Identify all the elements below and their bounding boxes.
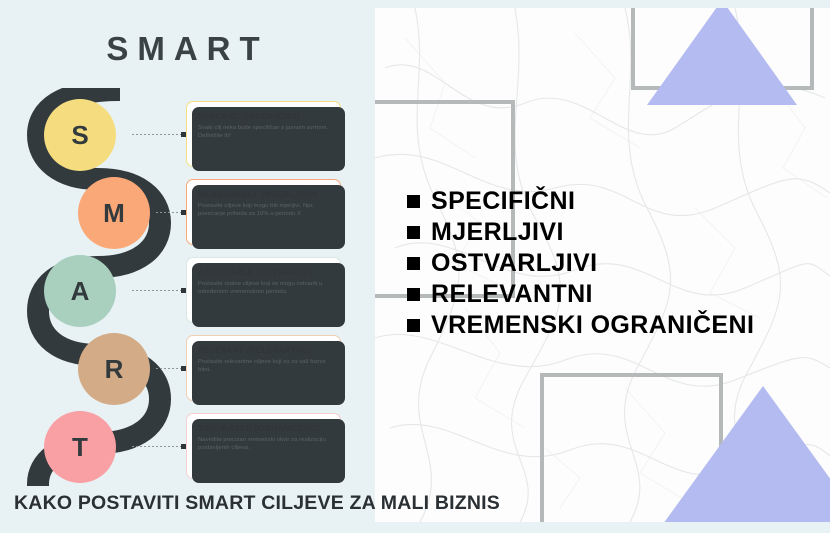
list-item: VREMENSKI OGRANIČENI: [407, 310, 754, 341]
connector-dot-a: [181, 288, 186, 293]
square-bullet-icon: [407, 319, 420, 332]
step-letter: T: [72, 432, 88, 463]
connector-line-m: [156, 212, 184, 213]
square-bullet-icon: [407, 288, 420, 301]
bullet-label: MJERLJIVI: [431, 218, 564, 247]
list-item: MJERLJIVI: [407, 217, 754, 248]
square-bullet-icon: [407, 257, 420, 270]
smart-bullet-list: SPECIFIČNI MJERLJIVI OSTVARLJIVI RELEVAN…: [407, 186, 754, 341]
list-item: OSTVARLJIVI: [407, 248, 754, 279]
card-title: SPECIFIC (SPECIFIČNO): [198, 111, 330, 122]
step-letter: M: [103, 198, 125, 229]
connector-dot-r: [181, 366, 186, 371]
step-circle-m[interactable]: M: [78, 177, 150, 249]
triangle-bottom-accent: [663, 386, 830, 522]
connector-line-a: [132, 290, 184, 291]
connector-dot-s: [181, 132, 186, 137]
step-card-relevant[interactable]: RELEVANT (RELEVANTNO) Postavite relevant…: [186, 335, 341, 401]
connector-dot-m: [181, 210, 186, 215]
card-title: TIME-BASED (OGRANIČENO): [198, 423, 330, 434]
step-letter: S: [71, 120, 88, 151]
card-body: Svaki cilj neka bude specifičan s jasnom…: [198, 124, 330, 141]
list-item: RELEVANTNI: [407, 279, 754, 310]
left-panel: SMART S M A R T: [0, 0, 375, 533]
list-item: SPECIFIČNI: [407, 186, 754, 217]
step-card-time-based[interactable]: TIME-BASED (OGRANIČENO) Navedite preciza…: [186, 413, 341, 479]
card-title: ACHIEVABLE (OSTVARIVO): [198, 267, 330, 278]
step-circle-t[interactable]: T: [44, 411, 116, 483]
step-letter: R: [105, 354, 124, 385]
bullet-label: OSTVARLJIVI: [431, 249, 597, 278]
connector-line-t: [132, 446, 184, 447]
card-title: MEASURABLE (MJERLJIVO): [198, 189, 330, 200]
bullet-label: VREMENSKI OGRANIČENI: [431, 311, 754, 340]
footer-headline: KAKO POSTAVITI SMART CILJEVE ZA MALI BIZ…: [14, 492, 500, 515]
step-card-specific[interactable]: SPECIFIC (SPECIFIČNO) Svaki cilj neka bu…: [186, 101, 341, 167]
card-body: Postavite ciljeve koji mogu biti mjerlji…: [198, 202, 330, 219]
page-title: SMART: [0, 30, 375, 68]
step-circle-r[interactable]: R: [78, 333, 150, 405]
step-circle-s[interactable]: S: [44, 99, 116, 171]
connector-line-r: [156, 368, 184, 369]
step-letter: A: [71, 276, 90, 307]
bullet-label: RELEVANTNI: [431, 280, 593, 309]
square-bullet-icon: [407, 195, 420, 208]
triangle-top-accent: [647, 8, 797, 105]
slide-canvas: SMART S M A R T: [0, 0, 830, 533]
connector-line-s: [132, 134, 184, 135]
bullet-label: SPECIFIČNI: [431, 187, 575, 216]
connector-dot-t: [181, 444, 186, 449]
step-circle-a[interactable]: A: [44, 255, 116, 327]
step-card-measurable[interactable]: MEASURABLE (MJERLJIVO) Postavite ciljeve…: [186, 179, 341, 245]
card-title: RELEVANT (RELEVANTNO): [198, 345, 330, 356]
card-body: Postavite relevantne ciljeve koji su za …: [198, 358, 330, 375]
step-card-achievable[interactable]: ACHIEVABLE (OSTVARIVO) Postavite realne …: [186, 257, 341, 323]
card-body: Postavite realne ciljeve koji se mogu os…: [198, 280, 330, 297]
card-body: Navedite precizan vremenski okvir za rea…: [198, 436, 330, 453]
right-panel: SPECIFIČNI MJERLJIVI OSTVARLJIVI RELEVAN…: [375, 8, 830, 522]
square-bullet-icon: [407, 226, 420, 239]
